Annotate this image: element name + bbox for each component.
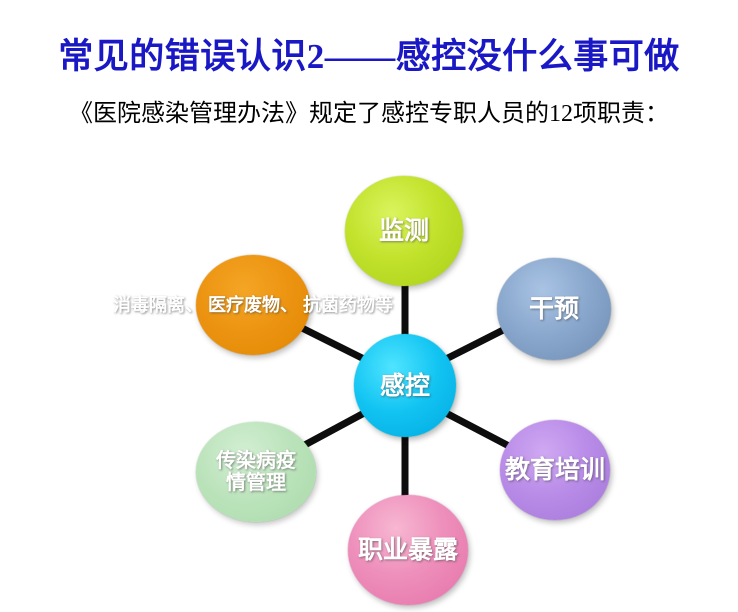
node-occupational-exposure-label: 职业暴露 <box>358 536 458 564</box>
node-education[interactable]: 教育培训 <box>500 420 610 520</box>
node-epidemic-management-label: 传染病疫 情管理 <box>216 450 296 495</box>
node-intervention[interactable]: 干预 <box>497 258 611 360</box>
hub-and-spoke-diagram: 监测 干预 教育培训 职业暴露 传染病疫 情管理 消毒隔离、 医疗废物、 抗菌药… <box>0 140 738 612</box>
node-monitoring[interactable]: 监测 <box>345 176 463 286</box>
node-epidemic-management[interactable]: 传染病疫 情管理 <box>196 422 316 522</box>
node-center-hub-label: 感控 <box>380 372 430 400</box>
node-disinfection-label: 消毒隔离、 医疗废物、 抗菌药物等 <box>113 294 393 317</box>
node-monitoring-label: 监测 <box>379 217 429 245</box>
page-title: 常见的错误认识2——感控没什么事可做 <box>0 28 738 79</box>
page-subtitle: 《医院感染管理办法》规定了感控专职人员的12项职责： <box>0 93 738 128</box>
node-occupational-exposure[interactable]: 职业暴露 <box>348 495 468 605</box>
node-center-hub[interactable]: 感控 <box>354 334 456 437</box>
node-disinfection[interactable]: 消毒隔离、 医疗废物、 抗菌药物等 <box>196 255 310 355</box>
node-education-label: 教育培训 <box>505 456 605 484</box>
node-intervention-label: 干预 <box>529 295 579 323</box>
